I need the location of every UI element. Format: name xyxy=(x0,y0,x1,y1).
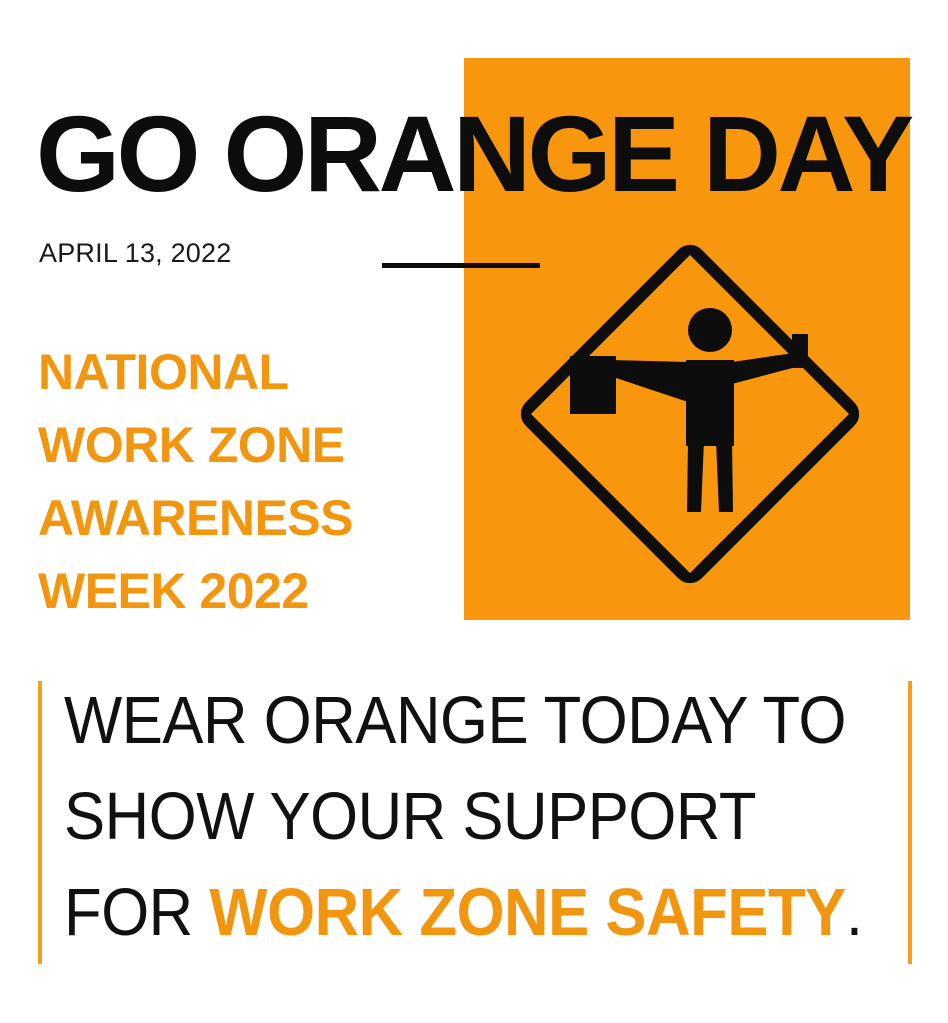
poster-canvas: GO ORANGE DAY APRIL 13, 2022 NATIONAL WO… xyxy=(0,0,948,1023)
campaign-subtitle-line: WEEK 2022 xyxy=(38,555,458,628)
campaign-subtitle-line: AWARENESS xyxy=(38,482,458,555)
campaign-subtitle-line: WORK ZONE xyxy=(38,409,458,482)
campaign-subtitle-line: NATIONAL xyxy=(38,336,458,409)
call-to-action-line: FOR WORK ZONE SAFETY. xyxy=(64,865,828,961)
left-accent-rule xyxy=(38,681,42,964)
flagger-ahead-road-sign-icon xyxy=(510,234,870,594)
call-to-action-line: WEAR ORANGE TODAY TO xyxy=(64,673,828,769)
right-accent-rule xyxy=(908,681,912,964)
call-to-action-prefix: FOR xyxy=(64,875,209,950)
call-to-action-block: WEAR ORANGE TODAY TO SHOW YOUR SUPPORT F… xyxy=(38,681,912,964)
campaign-subtitle: NATIONAL WORK ZONE AWARENESS WEEK 2022 xyxy=(38,336,458,628)
event-date: APRIL 13, 2022 xyxy=(39,238,231,268)
page-title: GO ORANGE DAY xyxy=(36,100,926,208)
call-to-action-period: . xyxy=(846,875,863,950)
call-to-action-text: WEAR ORANGE TODAY TO SHOW YOUR SUPPORT F… xyxy=(64,673,828,961)
title-divider-rule xyxy=(382,263,540,268)
call-to-action-highlight: WORK ZONE SAFETY xyxy=(209,875,845,950)
call-to-action-line: SHOW YOUR SUPPORT xyxy=(64,769,828,865)
